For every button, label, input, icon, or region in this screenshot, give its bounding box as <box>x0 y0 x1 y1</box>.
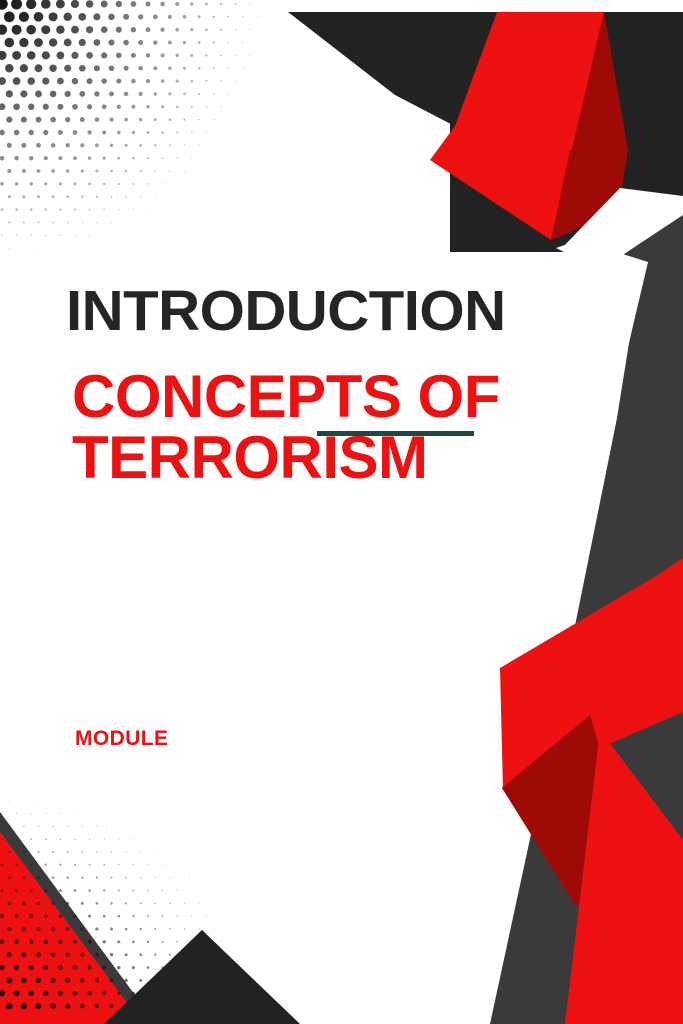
decorative-geometry-layer <box>0 0 683 1024</box>
poster-canvas: INTRODUCTION CONCEPTS OF TERRORISM MODUL… <box>0 0 683 1024</box>
teal-underline-rule <box>317 431 474 436</box>
top-left-halftone-pattern <box>0 0 272 274</box>
eyebrow-heading: INTRODUCTION <box>66 283 506 340</box>
bottom-dark-mountain-wide <box>108 930 296 1024</box>
title-line-2: TERRORISM <box>72 429 542 488</box>
module-label: MODULE <box>75 727 168 751</box>
page-title: CONCEPTS OF TERRORISM <box>72 368 542 488</box>
title-line-1: CONCEPTS OF <box>72 368 542 427</box>
